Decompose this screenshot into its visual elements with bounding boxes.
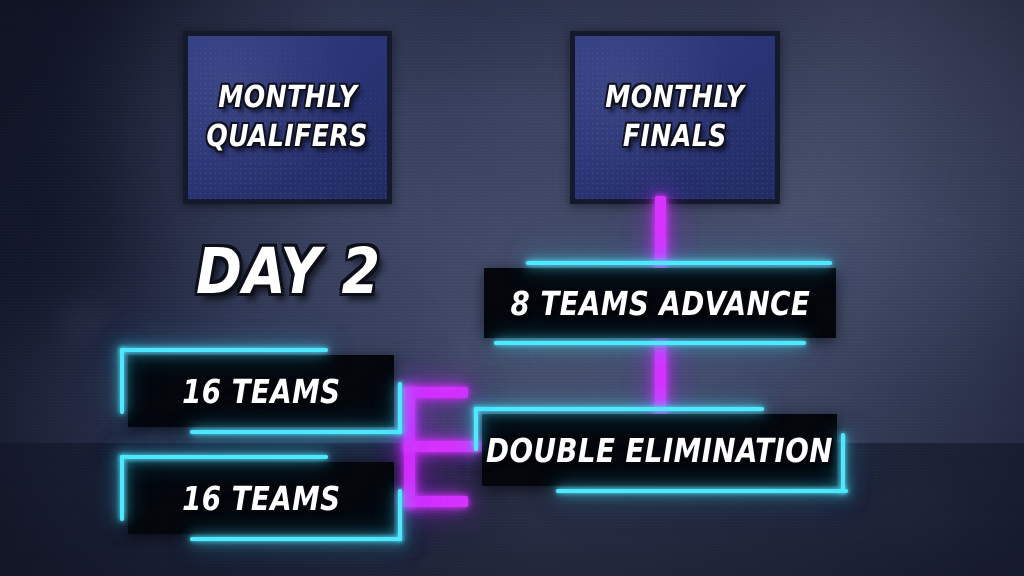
neon-edge-left bbox=[120, 455, 124, 521]
neon-edge-bottom bbox=[190, 537, 402, 541]
group-bar-label: 16 TEAMS bbox=[182, 375, 340, 408]
infographic-canvas: MONTHLY QUALIFERS MONTHLY FINALS DAY 2 1… bbox=[0, 0, 1024, 576]
neon-edge-bottom bbox=[494, 341, 806, 345]
neon-edge-right bbox=[398, 382, 402, 434]
neon-edge-top bbox=[120, 348, 328, 352]
stage-box-qualifiers-line2: QUALIFERS bbox=[207, 122, 368, 152]
outcome-bar-label: DOUBLE ELIMINATION bbox=[486, 434, 833, 467]
neon-edge-bottom bbox=[556, 489, 848, 493]
outcome-bar-teams-advance[interactable]: 8 TEAMS ADVANCE bbox=[484, 268, 836, 338]
group-bar-label: 16 TEAMS bbox=[182, 482, 340, 515]
neon-edge-left bbox=[474, 407, 478, 451]
neon-edge-top bbox=[526, 261, 832, 265]
stage-box-monthly-qualifiers[interactable]: MONTHLY QUALIFERS bbox=[183, 31, 392, 204]
halftone-texture bbox=[575, 36, 775, 199]
neon-edge-right bbox=[841, 433, 845, 493]
neon-edge-bottom bbox=[190, 430, 402, 434]
neon-edge-left bbox=[120, 348, 124, 414]
neon-edge-right bbox=[398, 489, 402, 541]
stage-box-finals-line2: FINALS bbox=[623, 122, 727, 152]
outcome-bar-format[interactable]: DOUBLE ELIMINATION bbox=[482, 414, 837, 486]
group-bar-16-teams-b[interactable]: 16 TEAMS bbox=[128, 462, 394, 534]
day-label: DAY 2 bbox=[196, 240, 381, 303]
neon-edge-top bbox=[474, 407, 764, 411]
neon-edge-top bbox=[120, 455, 328, 459]
stage-box-monthly-finals[interactable]: MONTHLY FINALS bbox=[570, 31, 780, 204]
outcome-bar-label: 8 TEAMS ADVANCE bbox=[510, 287, 810, 320]
group-bar-16-teams-a[interactable]: 16 TEAMS bbox=[128, 355, 394, 427]
stage-box-finals-line1: MONTHLY bbox=[605, 83, 744, 113]
halftone-texture bbox=[188, 36, 387, 199]
stage-box-qualifiers-line1: MONTHLY bbox=[218, 83, 357, 113]
